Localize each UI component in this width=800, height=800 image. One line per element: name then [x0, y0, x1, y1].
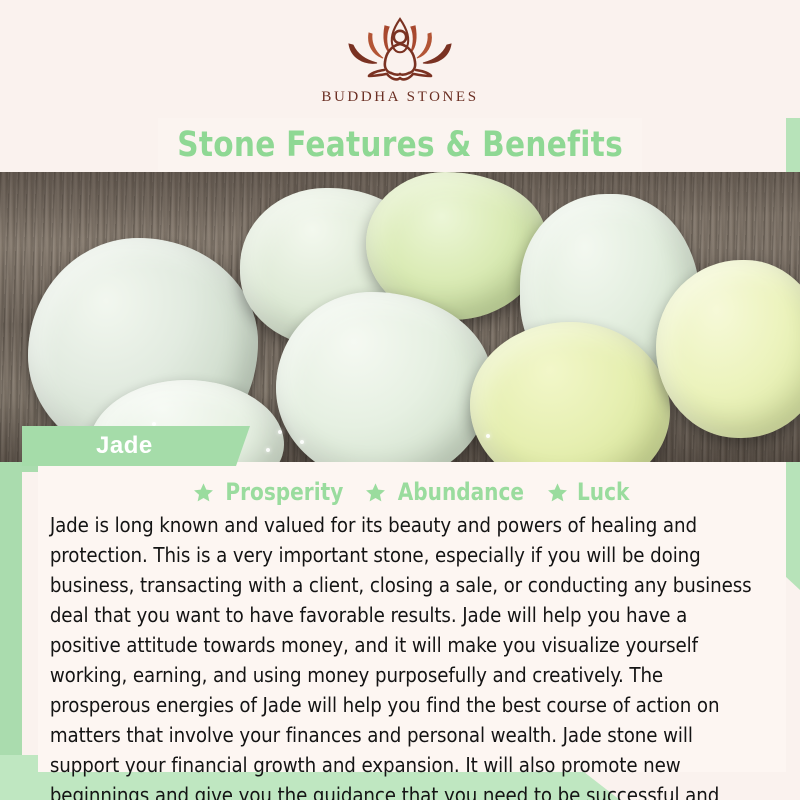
page-title: Stone Features & Benefits — [177, 125, 623, 165]
stone-name-band: Jade — [22, 426, 250, 466]
lotus-meditation-icon — [325, 13, 475, 87]
sparkle — [486, 434, 490, 438]
benefit-label: Abundance — [398, 478, 524, 506]
stone-info-card: BUDDHA STONES Stone Features & Benefits … — [0, 0, 800, 800]
benefit-item-prosperity: Prosperity — [193, 478, 348, 506]
sparkle — [300, 440, 304, 444]
sparkle — [278, 430, 282, 434]
benefit-item-luck: Luck — [547, 478, 631, 506]
sparkle — [152, 422, 156, 426]
sparkle — [266, 448, 270, 452]
description-text: Jade is long known and valued for its be… — [38, 510, 775, 800]
benefits-row: Prosperity Abundance Luck — [38, 462, 786, 508]
decor-bottom-left-block — [0, 755, 38, 800]
star-icon — [547, 482, 568, 503]
star-icon — [365, 482, 386, 503]
brand-header: BUDDHA STONES — [0, 0, 800, 118]
content-panel: Prosperity Abundance Luck Jade is long k… — [38, 462, 786, 772]
benefit-label: Prosperity — [225, 478, 343, 506]
star-icon — [193, 482, 214, 503]
title-banner: Stone Features & Benefits — [158, 118, 642, 172]
benefit-item-abundance: Abundance — [365, 478, 529, 506]
hero-photo — [0, 172, 800, 462]
brand-name: BUDDHA STONES — [321, 89, 478, 106]
benefit-label: Luck — [577, 478, 629, 506]
stone-name-label: Jade — [96, 432, 153, 460]
